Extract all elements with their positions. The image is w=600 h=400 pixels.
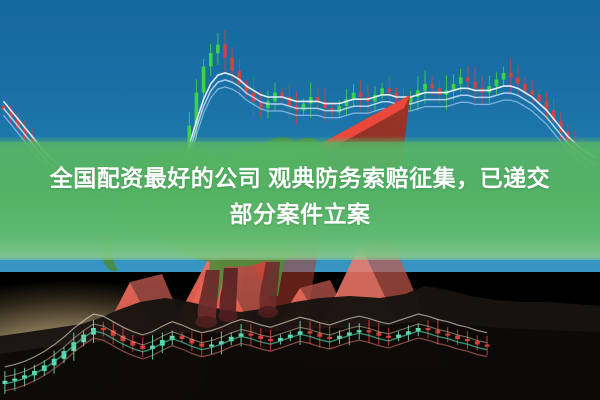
headline-text: 全国配资最好的公司 观典防务索赔征集，已递交 部分案件立案 [0,160,600,232]
headline-line-1: 全国配资最好的公司 观典防务索赔征集，已递交 [0,160,600,196]
headline-line-2: 部分案件立案 [0,196,600,232]
promo-banner-image: 全国配资最好的公司 观典防务索赔征集，已递交 部分案件立案 [0,0,600,400]
